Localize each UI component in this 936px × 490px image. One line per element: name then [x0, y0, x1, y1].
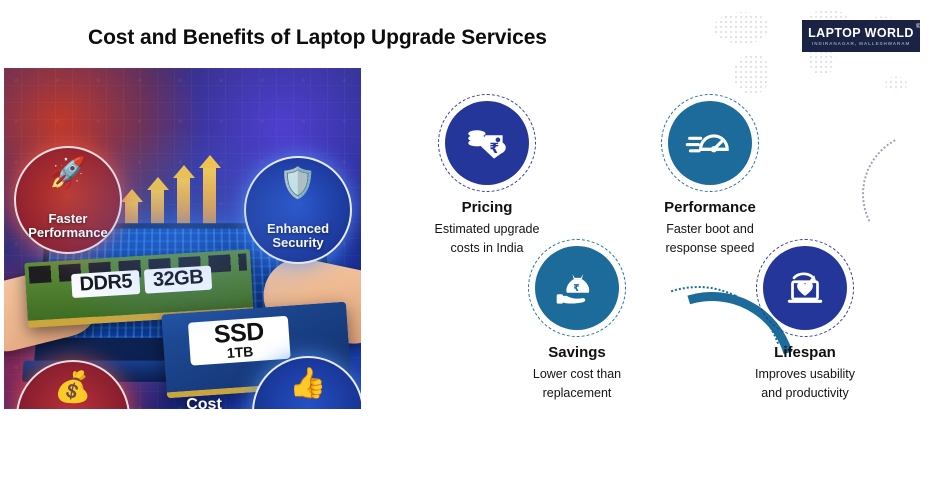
laptop-base	[22, 361, 348, 382]
ram-type-label: DDR5	[71, 270, 141, 298]
feature-performance: Performance Faster boot and response spe…	[605, 101, 815, 259]
hand-money-bag-icon: ₹	[552, 263, 602, 313]
ssd-label: SSD 1TB	[188, 316, 291, 366]
registered-mark-icon: ®	[916, 24, 921, 30]
laptop-screen	[42, 229, 327, 338]
growth-arrows-graphic	[99, 164, 249, 234]
ram-chips	[28, 253, 247, 283]
badge-long-term-savings: 💰 Long-Term Savings	[16, 360, 130, 409]
shield-check-icon: 🛡️	[246, 168, 350, 200]
feature-savings: ₹ Savings Lower cost than replacement	[472, 246, 682, 404]
logo-name: LAPTOP WORLD®	[808, 26, 914, 40]
cost-label: Cost	[134, 396, 274, 409]
ssd-capacity-label: 1TB	[190, 342, 291, 363]
ram-capacity-label: 32GB	[144, 266, 212, 294]
feature-lifespan-desc: Improves usability and productivity	[700, 365, 910, 404]
badge-enhanced-security-text: Enhanced Security	[267, 222, 329, 262]
brand-logo: LAPTOP WORLD® INDIRANAGAR, MALLESHWARAM	[802, 20, 920, 52]
ssd-module-graphic: SSD 1TB	[161, 302, 351, 399]
feature-savings-desc: Lower cost than replacement	[472, 365, 682, 404]
badge-enhanced-security: 🛡️ Enhanced Security	[244, 156, 352, 264]
feature-lifespan-title: Lifespan	[700, 344, 910, 361]
feature-lifespan: Lifespan Improves usability and producti…	[700, 246, 910, 404]
badge-faster-performance: 🚀 Faster Performance	[14, 146, 122, 254]
pricing-icon-circle: ₹	[445, 101, 529, 185]
feature-pricing: ₹ Pricing Estimated upgrade costs in Ind…	[382, 101, 592, 259]
poster-canvas: LAPTOP WORLD® INDIRANAGAR, MALLESHWARAM …	[0, 0, 936, 409]
world-map-watermark	[700, 0, 936, 111]
page-title: Cost and Benefits of Laptop Upgrade Serv…	[88, 26, 547, 50]
performance-icon-circle	[668, 101, 752, 185]
logo-tagline: INDIRANAGAR, MALLESHWARAM	[812, 41, 910, 46]
feature-savings-title: Savings	[472, 344, 682, 361]
left-hand-graphic	[4, 259, 107, 358]
cost-callout: Cost ₹20,000- 60,000	[134, 396, 274, 409]
svg-text:₹: ₹	[573, 283, 580, 294]
laptop-graphic	[33, 223, 336, 369]
speedometer-icon	[685, 118, 735, 168]
feature-performance-title: Performance	[605, 199, 815, 216]
rupee-coins-tag-icon: ₹	[462, 118, 512, 168]
laptop-heart-refresh-icon	[780, 263, 830, 313]
badge-cost-benefits: 👍 ★★★★★ Cost Benefits	[252, 356, 361, 409]
ram-label: DDR5 32GB	[71, 266, 212, 298]
ram-module-graphic: DDR5 32GB	[24, 249, 254, 328]
ssd-type-label: SSD	[188, 318, 289, 349]
coins-cash-icon: 💰	[18, 372, 128, 404]
savings-icon-circle: ₹	[535, 246, 619, 330]
lifespan-icon-circle	[763, 246, 847, 330]
thumbs-up-icon: 👍	[254, 368, 361, 400]
rocket-icon: 🚀	[16, 158, 120, 190]
badge-faster-performance-text: Faster Performance	[28, 212, 107, 252]
right-hand-graphic	[257, 252, 361, 351]
feature-pricing-title: Pricing	[382, 199, 592, 216]
hero-illustration: DDR5 32GB SSD 1TB Cost ₹20,000- 60,000 🚀…	[4, 68, 361, 409]
svg-text:₹: ₹	[489, 141, 499, 157]
